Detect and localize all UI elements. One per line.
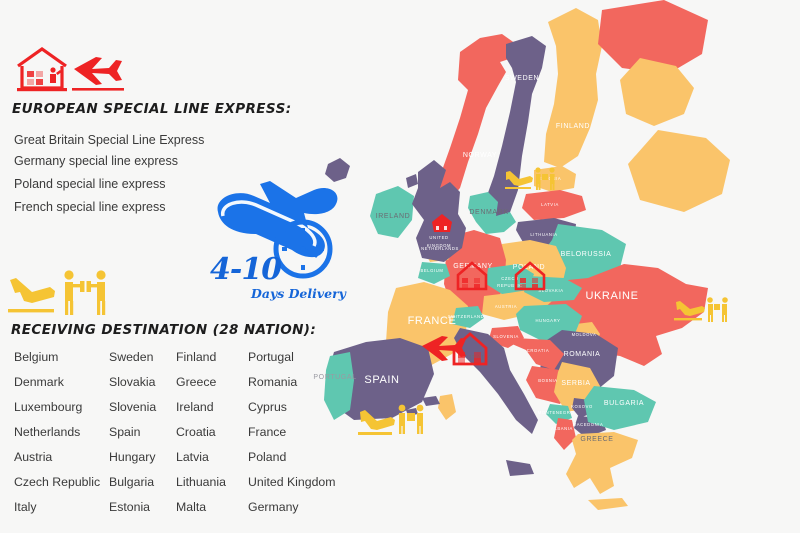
label-macedonia: MACEDONIA bbox=[573, 422, 604, 427]
destination-row: Belgium Sweden Finland Portugal bbox=[14, 350, 339, 375]
country-item: Germany bbox=[248, 500, 299, 514]
region-finland bbox=[544, 8, 602, 168]
destination-row: Netherlands Spain Croatia France bbox=[14, 425, 339, 450]
plane-landing-handover-icon bbox=[6, 266, 118, 318]
express-item: Poland special line express bbox=[14, 177, 165, 191]
express-item: Great Britain Special Line Express bbox=[14, 133, 204, 147]
label-ukraine: UKRAINE bbox=[585, 290, 638, 302]
country-item: Sweden bbox=[109, 350, 176, 364]
label-kosovo: KOSOVO bbox=[571, 404, 593, 409]
delivery-days-number: 4-10 bbox=[210, 252, 281, 287]
country-item: Bulgaria bbox=[109, 475, 176, 489]
region-sicily bbox=[506, 460, 534, 476]
country-item: Netherlands bbox=[14, 425, 109, 439]
label-portugal: PORTUGAL bbox=[313, 374, 356, 381]
country-item: Malta bbox=[176, 500, 248, 514]
label-sweden: SWEDEN bbox=[505, 75, 539, 82]
country-item: Spain bbox=[109, 425, 176, 439]
country-item: Slovenia bbox=[109, 400, 176, 414]
country-item: Estonia bbox=[109, 500, 176, 514]
label-denmark: DENMARK bbox=[469, 209, 508, 216]
europe-map-svg: SWEDEN FINLAND NORWAY DENMARK IRELAND UN… bbox=[310, 0, 800, 533]
country-item: Luxembourg bbox=[14, 400, 109, 414]
destination-country-grid: Belgium Sweden Finland Portugal Denmark … bbox=[14, 350, 339, 525]
country-item: Belgium bbox=[14, 350, 109, 364]
region-scotland-isles bbox=[406, 174, 418, 188]
label-albania: ALBANIA bbox=[551, 426, 573, 431]
destination-heading: RECEIVING DESTINATION (28 NATION): bbox=[11, 322, 316, 338]
country-item: Denmark bbox=[14, 375, 109, 389]
label-austria: AUSTRIA bbox=[495, 304, 517, 309]
destination-row: Luxembourg Slovenia Ireland Cyprus bbox=[14, 400, 339, 425]
region-russia-east bbox=[628, 130, 730, 212]
region-iceland bbox=[325, 158, 350, 182]
label-greece: GREECE bbox=[580, 436, 613, 443]
label-belorussia: BELORUSSIA bbox=[561, 251, 612, 258]
country-item: Greece bbox=[176, 375, 248, 389]
country-item: France bbox=[248, 425, 286, 439]
region-sardinia bbox=[438, 394, 456, 420]
europe-map: SWEDEN FINLAND NORWAY DENMARK IRELAND UN… bbox=[310, 0, 800, 533]
country-item: Portugal bbox=[248, 350, 294, 364]
label-hungary: HUNGARY bbox=[535, 318, 560, 323]
country-item: Ireland bbox=[176, 400, 248, 414]
label-bulgaria: BULGARIA bbox=[604, 400, 644, 407]
country-item: Czech Republic bbox=[14, 475, 109, 489]
label-latvia: LATVIA bbox=[541, 202, 559, 207]
region-ireland bbox=[370, 186, 414, 238]
express-item: Germany special line express bbox=[14, 154, 178, 168]
label-switzerland: SWITZERLAND bbox=[448, 314, 485, 319]
country-item: Italy bbox=[14, 500, 109, 514]
country-item: Latvia bbox=[176, 450, 248, 464]
country-item: Finland bbox=[176, 350, 248, 364]
label-bosnia: BOSNIA bbox=[538, 378, 557, 383]
label-romania: ROMANIA bbox=[564, 351, 601, 358]
country-item: Romania bbox=[248, 375, 297, 389]
label-united-kingdom-line1: UNITED bbox=[429, 235, 448, 240]
label-montenegro: MONTENEGRO bbox=[538, 410, 575, 415]
label-lithuania: LITHUANIA bbox=[530, 232, 557, 237]
destination-row: Denmark Slovakia Greece Romania bbox=[14, 375, 339, 400]
country-item: Cyprus bbox=[248, 400, 287, 414]
destination-row: Austria Hungary Latvia Poland bbox=[14, 450, 339, 475]
country-item: Croatia bbox=[176, 425, 248, 439]
country-item: Slovakia bbox=[109, 375, 176, 389]
label-netherlands: NETHERLANDS bbox=[421, 246, 459, 251]
region-crete bbox=[588, 498, 628, 510]
label-norway: NORWAY bbox=[463, 152, 497, 159]
express-heading: EUROPEAN SPECIAL LINE EXPRESS: bbox=[12, 101, 292, 117]
label-serbia: SERBIA bbox=[561, 380, 590, 387]
express-item: French special line express bbox=[14, 200, 165, 214]
label-spain: SPAIN bbox=[364, 374, 399, 386]
country-item: Lithuania bbox=[176, 475, 248, 489]
label-belgium: BELGIUM bbox=[420, 268, 443, 273]
label-finland: FINLAND bbox=[556, 123, 590, 130]
country-item: Hungary bbox=[109, 450, 176, 464]
infographic-root: EUROPEAN SPECIAL LINE EXPRESS: Great Bri… bbox=[0, 0, 800, 533]
region-russia-kaliningrad bbox=[620, 58, 694, 126]
warehouse-airplane-icon bbox=[12, 44, 130, 96]
destination-row: Italy Estonia Malta Germany bbox=[14, 500, 339, 525]
label-ireland: IRELAND bbox=[376, 213, 411, 220]
label-moldova: MOLDOVA bbox=[572, 332, 597, 337]
region-portugal bbox=[324, 352, 354, 420]
country-item: Poland bbox=[248, 450, 286, 464]
label-czech-line2: REPUBLIC bbox=[497, 283, 523, 288]
label-croatia: CROATIA bbox=[527, 348, 550, 353]
destination-row: Czech Republic Bulgaria Lithuania United… bbox=[14, 475, 339, 500]
label-slovenia: SLOVENIA bbox=[493, 334, 519, 339]
region-balearics bbox=[422, 396, 440, 406]
country-item: Austria bbox=[14, 450, 109, 464]
